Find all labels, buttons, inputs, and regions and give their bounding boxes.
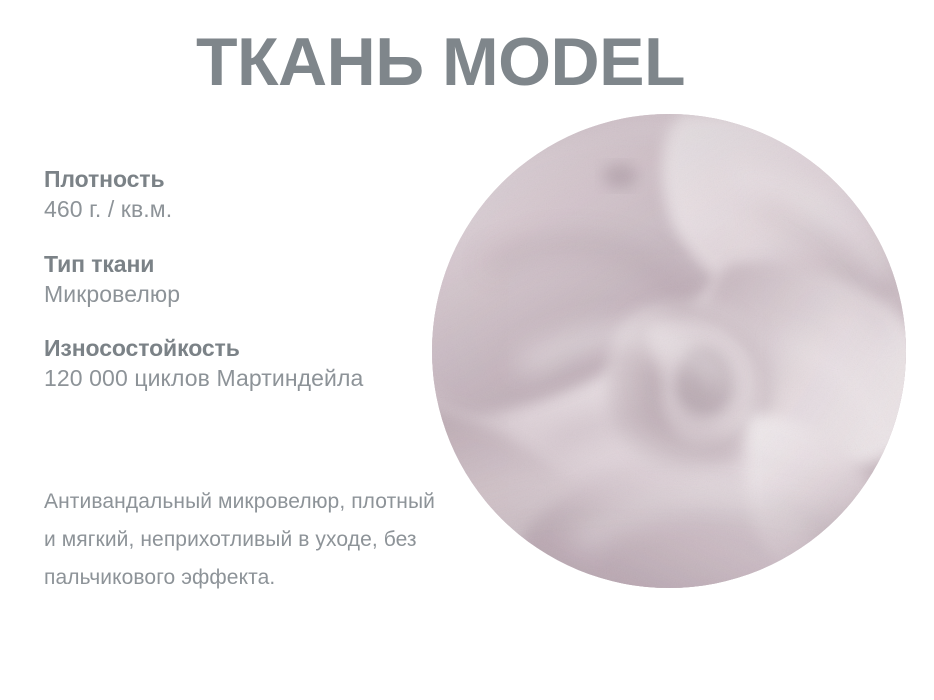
- fabric-photo-illustration: [432, 114, 906, 588]
- fabric-photo: [432, 114, 906, 588]
- spec-value-abrasion-resistance: 120 000 циклов Мартиндейла: [44, 363, 414, 394]
- spec-item-density: Плотность 460 г. / кв.м.: [44, 165, 414, 225]
- page-title: ТКАНЬ MODEL: [196, 24, 685, 100]
- fabric-spec-card: ТКАНЬ MODEL Плотность 460 г. / кв.м. Тип…: [0, 0, 934, 700]
- fabric-description: Антивандальный микровелюр, плотный и мяг…: [44, 483, 444, 598]
- spec-item-fabric-type: Тип ткани Микровелюр: [44, 250, 414, 310]
- spec-label-abrasion-resistance: Износостойкость: [44, 334, 414, 363]
- spec-value-fabric-type: Микровелюр: [44, 279, 414, 310]
- spec-label-density: Плотность: [44, 165, 414, 194]
- spec-label-fabric-type: Тип ткани: [44, 250, 414, 279]
- spec-list: Плотность 460 г. / кв.м. Тип ткани Микро…: [44, 165, 414, 394]
- spec-value-density: 460 г. / кв.м.: [44, 194, 414, 225]
- spec-item-abrasion-resistance: Износостойкость 120 000 циклов Мартиндей…: [44, 334, 414, 394]
